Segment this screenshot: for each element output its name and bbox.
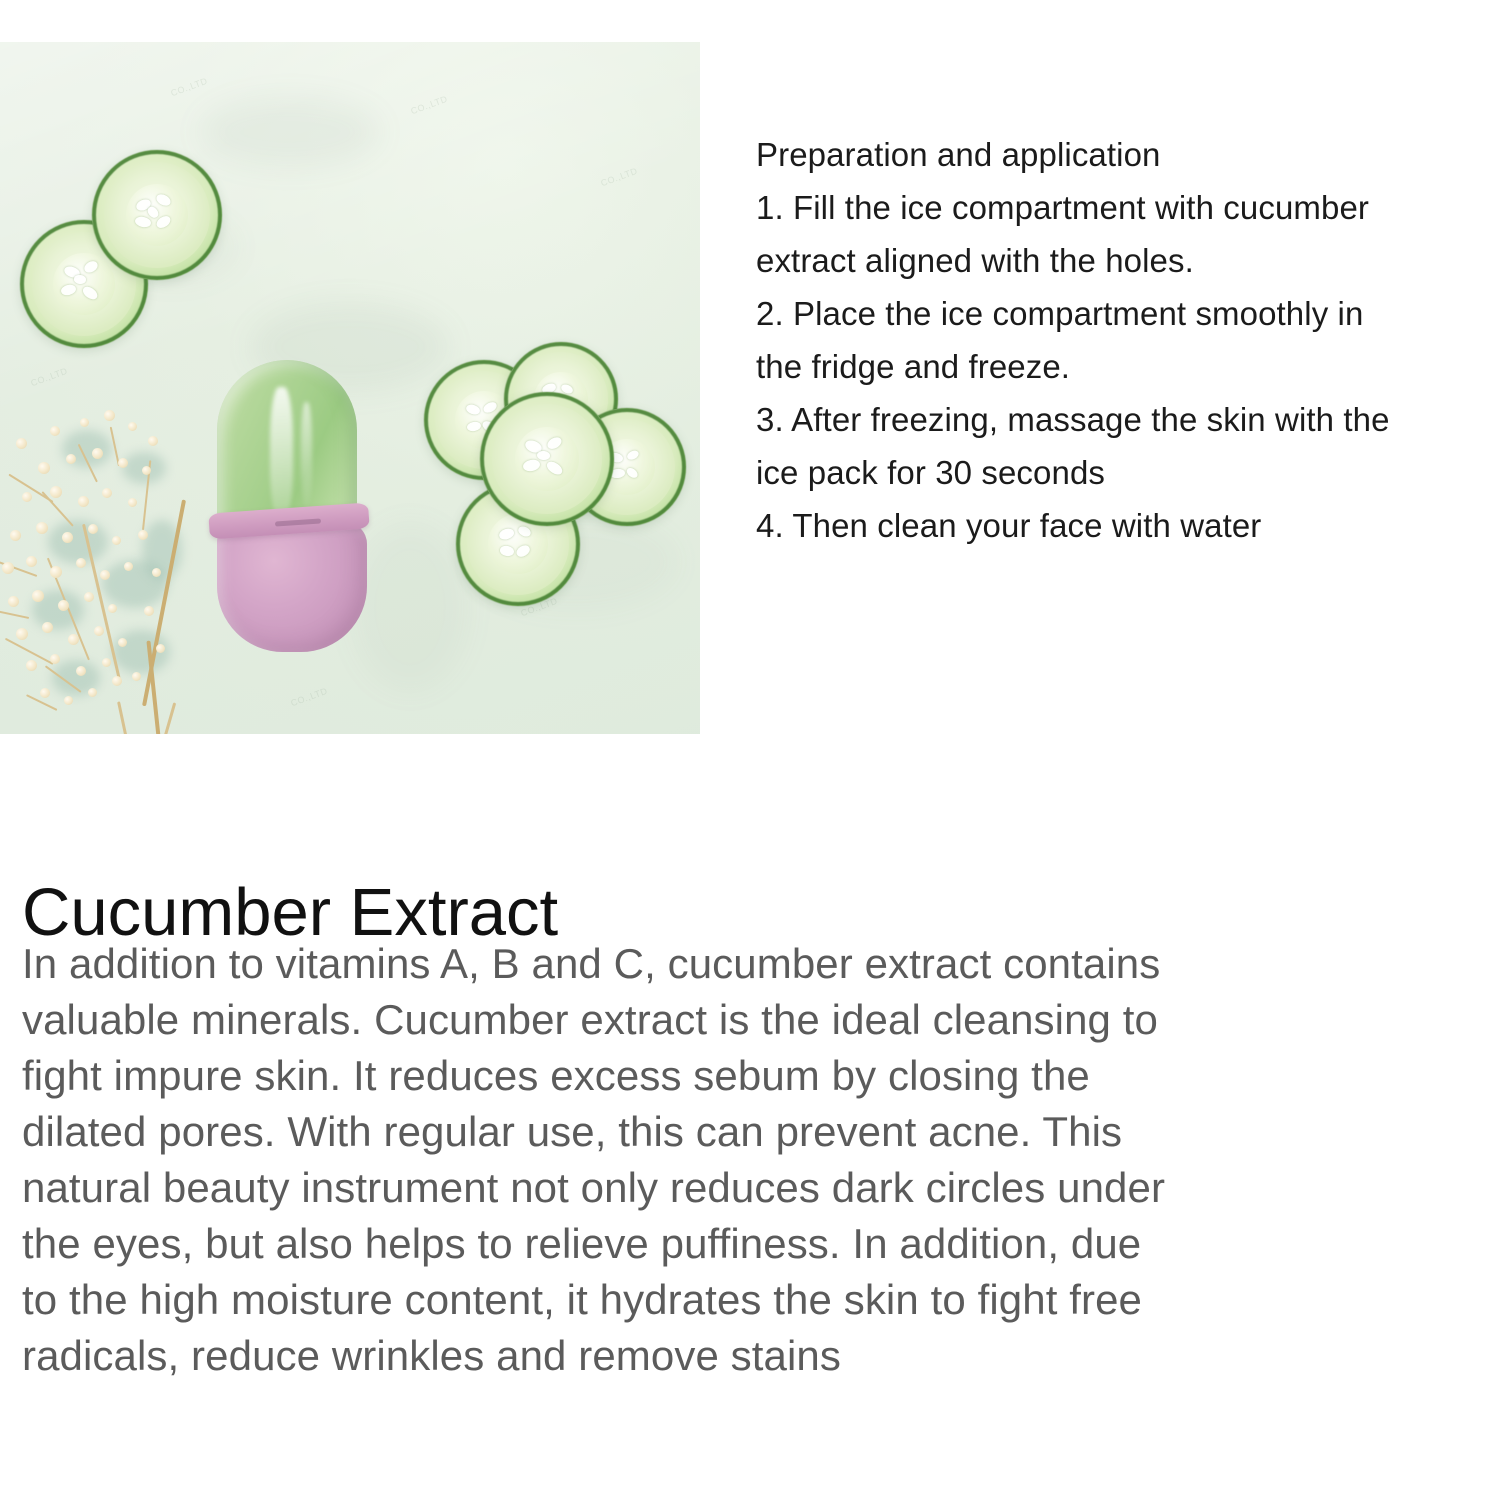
dome-highlight [270,387,292,520]
slice-seed [514,543,531,559]
section-body-copy: In addition to vitamins A, B and C, cucu… [22,936,1442,1384]
soft-shadow [200,97,380,167]
instruction-line-2: extract aligned with the holes. [756,234,1486,287]
slice-seed [522,459,541,473]
instruction-line-1: 1. Fill the ice compartment with cucumbe… [756,181,1486,234]
slice-seed [134,216,152,229]
body-line-3: fight impure skin. It reduces excess seb… [22,1048,1442,1104]
body-line-7: to the high moisture content, it hydrate… [22,1272,1442,1328]
instruction-title: Preparation and application [756,128,1486,181]
slice-seed [464,403,480,416]
slice-core [515,427,579,491]
body-line-1: In addition to vitamins A, B and C, cucu… [22,936,1442,992]
slice-seed [536,451,549,461]
instruction-line-7: 4. Then clean your face with water [756,499,1486,552]
cucumber-slice [92,150,222,280]
slice-seed [517,525,533,539]
instruction-line-5: 3. After freezing, massage the skin with… [756,393,1486,446]
body-line-4: dilated pores. With regular use, this ca… [22,1104,1442,1160]
slice-core [126,184,188,246]
slice-seed [466,421,481,432]
instruction-line-3: 2. Place the ice compartment smoothly in [756,287,1486,340]
product-photo: CO.,LTD CO.,LTD CO.,LTD CO.,LTD CO.,LTD … [0,42,700,734]
slice-seed [82,259,99,274]
instruction-line-4: the fridge and freeze. [756,340,1486,393]
slice-seed [154,192,172,208]
cucumber-ice-roller [209,360,369,650]
body-line-2: valuable minerals. Cucumber extract is t… [22,992,1442,1048]
instruction-line-6: ice pack for 30 seconds [756,446,1486,499]
preparation-instructions: Preparation and application 1. Fill the … [756,128,1486,552]
top-section: CO.,LTD CO.,LTD CO.,LTD CO.,LTD CO.,LTD … [0,0,1500,790]
slice-seed [498,526,516,540]
slice-seed [73,275,86,285]
slice-seed [60,284,77,297]
slice-seed [626,449,641,462]
body-line-5: natural beauty instrument not only reduc… [22,1160,1442,1216]
body-line-8: radicals, reduce wrinkles and remove sta… [22,1328,1442,1384]
slice-seed [625,466,640,480]
slice-seed [80,284,99,302]
slice-seed [545,435,563,452]
body-line-6: the eyes, but also helps to relieve puff… [22,1216,1442,1272]
dome-highlight [301,402,312,507]
slice-seed [544,459,564,477]
slice-seed [482,400,498,414]
dried-flowers [0,400,242,734]
cucumber-slice [480,392,614,526]
roller-base [217,522,367,652]
slice-core [53,253,114,314]
slice-seed [499,545,515,557]
